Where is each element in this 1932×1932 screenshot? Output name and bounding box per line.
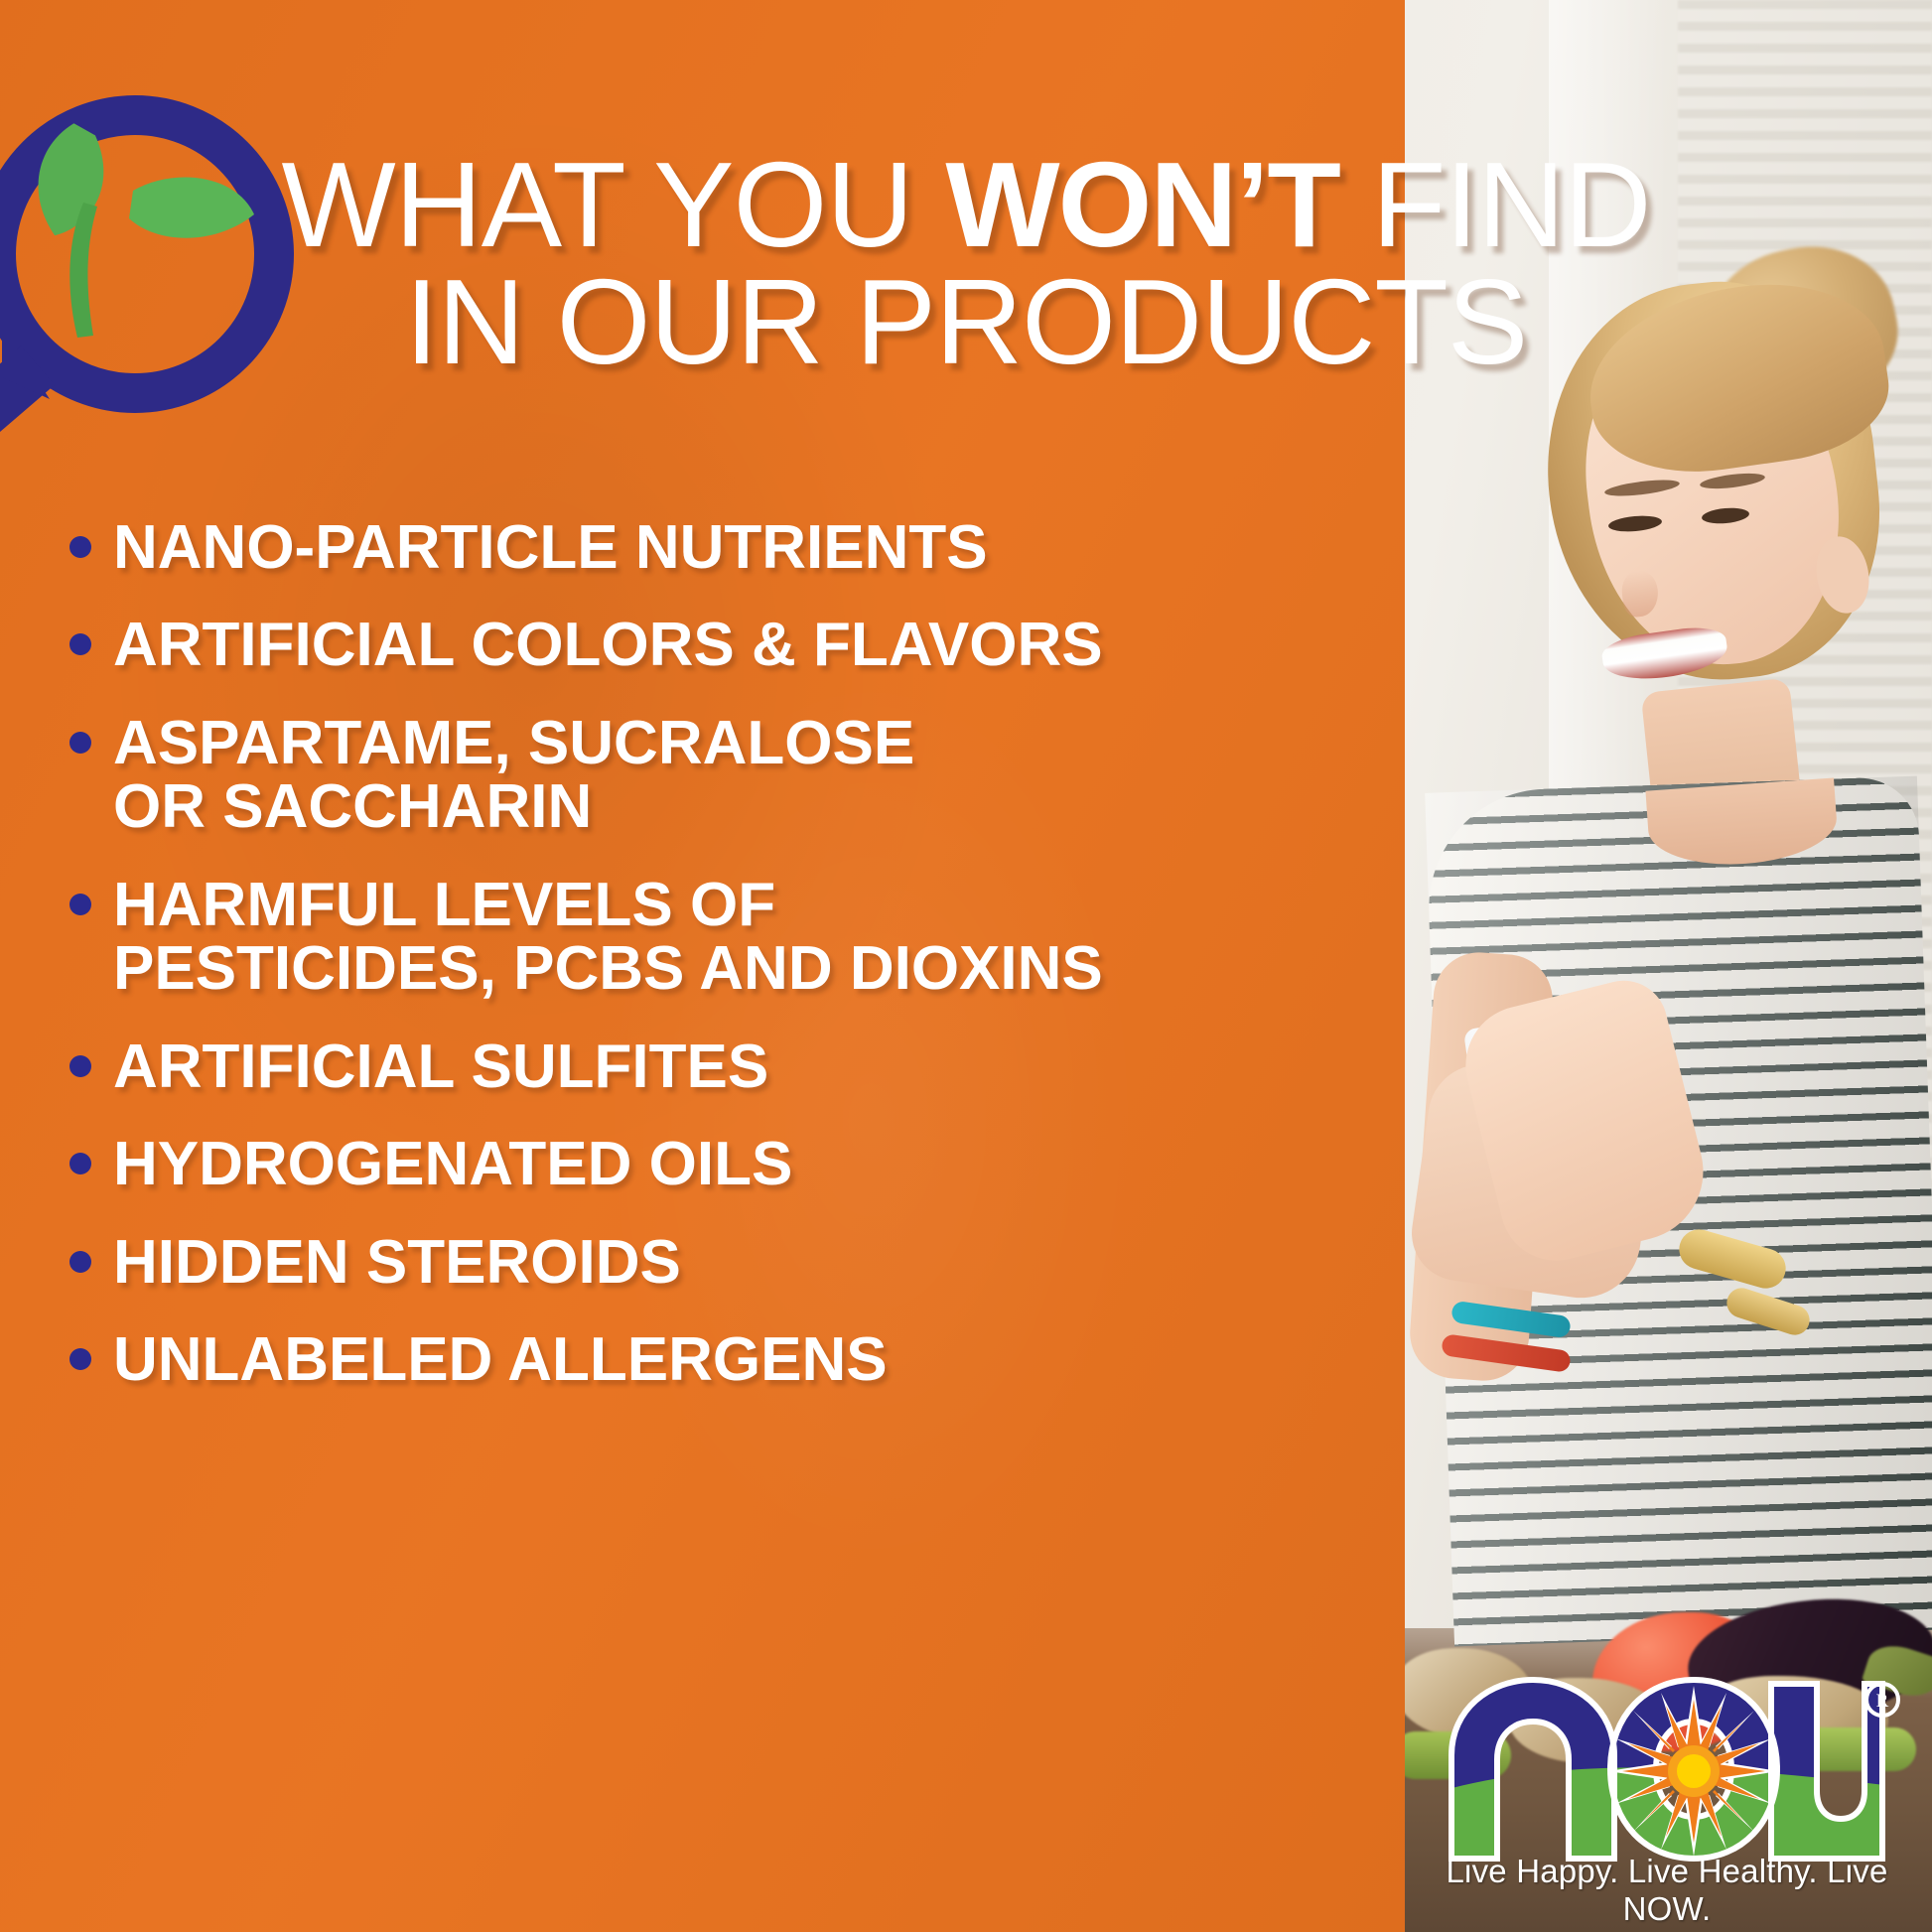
list-item: NANO-PARTICLE NUTRIENTS bbox=[69, 516, 1241, 580]
list-item: HIDDEN STEROIDS bbox=[69, 1231, 1241, 1295]
list-item: ASPARTAME, SUCRALOSE OR SACCHARIN bbox=[69, 712, 1241, 840]
bullet-dot-icon bbox=[69, 536, 91, 558]
sunburst-icon bbox=[1608, 1686, 1779, 1857]
list-item: UNLABELED ALLERGENS bbox=[69, 1328, 1241, 1392]
list-item-label: ARTIFICIAL COLORS & FLAVORS bbox=[113, 614, 1103, 677]
bullet-dot-icon bbox=[69, 1153, 91, 1174]
list-item: ARTIFICIAL COLORS & FLAVORS bbox=[69, 614, 1241, 677]
list-item-label: HIDDEN STEROIDS bbox=[113, 1231, 681, 1295]
list-item: HYDROGENATED OILS bbox=[69, 1133, 1241, 1196]
promo-graphic: WHAT YOU WON’T FIND IN OUR PRODUCTS NANO… bbox=[0, 0, 1932, 1932]
list-item-label: HARMFUL LEVELS OF PESTICIDES, PCBS AND D… bbox=[113, 874, 1103, 1002]
bullet-dot-icon bbox=[69, 1348, 91, 1370]
list-item-label: NANO-PARTICLE NUTRIENTS bbox=[113, 516, 988, 580]
excluded-ingredients-list: NANO-PARTICLE NUTRIENTS ARTIFICIAL COLOR… bbox=[69, 516, 1241, 1427]
bullet-dot-icon bbox=[69, 894, 91, 915]
bullet-dot-icon bbox=[69, 1055, 91, 1077]
list-item-label: ARTIFICIAL SULFITES bbox=[113, 1035, 768, 1099]
list-item-label: UNLABELED ALLERGENS bbox=[113, 1328, 888, 1392]
list-item-label: ASPARTAME, SUCRALOSE OR SACCHARIN bbox=[113, 712, 914, 840]
svg-text:R: R bbox=[1876, 1691, 1889, 1712]
list-item: ARTIFICIAL SULFITES bbox=[69, 1035, 1241, 1099]
list-item: HARMFUL LEVELS OF PESTICIDES, PCBS AND D… bbox=[69, 874, 1241, 1002]
magnifying-glass-icon bbox=[0, 79, 326, 496]
now-logo: R bbox=[1434, 1664, 1900, 1902]
bullet-dot-icon bbox=[69, 633, 91, 655]
list-item-label: HYDROGENATED OILS bbox=[113, 1133, 792, 1196]
bullet-dot-icon bbox=[69, 1251, 91, 1273]
bullet-dot-icon bbox=[69, 732, 91, 754]
